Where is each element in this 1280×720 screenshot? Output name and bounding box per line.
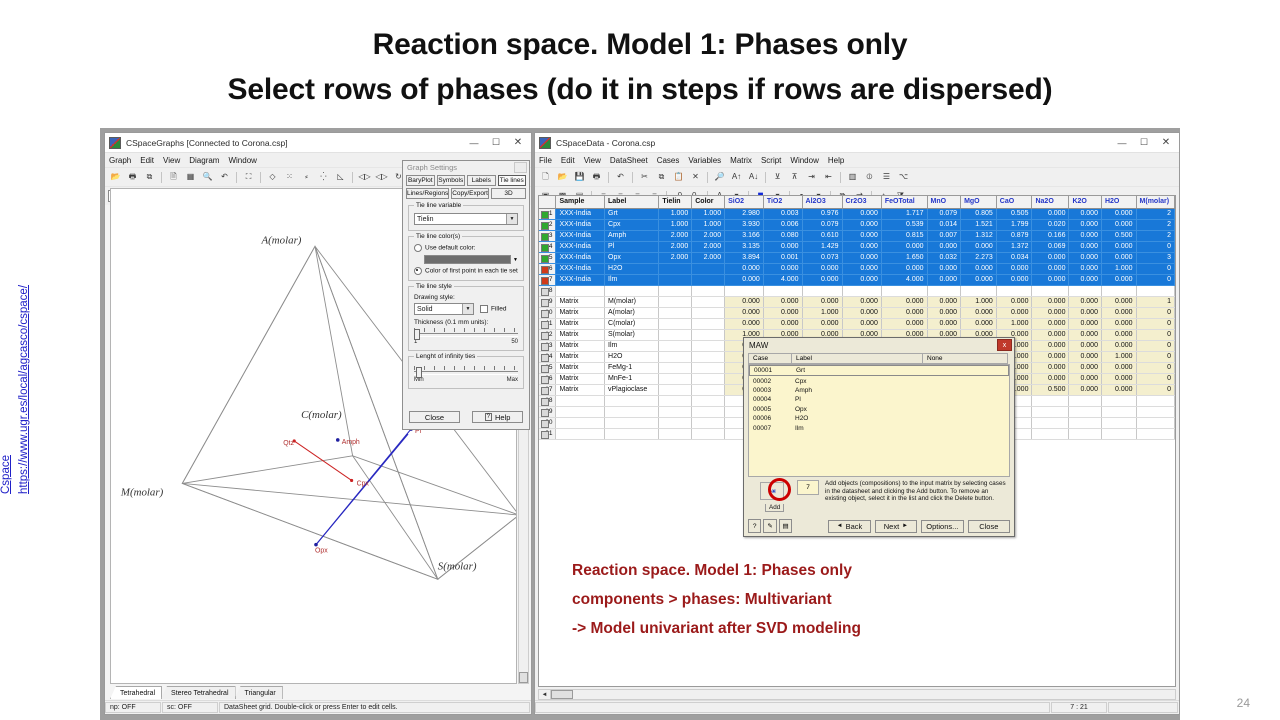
- cell-value[interactable]: 0.000: [1101, 362, 1136, 373]
- cell-sample[interactable]: XXX-India: [556, 252, 605, 263]
- maximize-button[interactable]: ☐: [485, 134, 507, 151]
- cell-value[interactable]: 0.000: [1101, 373, 1136, 384]
- table-row[interactable]: 1XXX-IndiaGrt1.0001.0002.9800.0030.9760.…: [539, 208, 1175, 219]
- cell-value[interactable]: 0.000: [1069, 252, 1102, 263]
- cell-value[interactable]: 1.000: [996, 318, 1032, 329]
- cell-value[interactable]: 0.000: [1101, 219, 1136, 230]
- column-header-k2o[interactable]: K2O: [1069, 196, 1102, 208]
- cell-tielin[interactable]: [659, 329, 692, 340]
- cell-tielin[interactable]: 1.000: [659, 208, 692, 219]
- close-button[interactable]: Close: [409, 411, 460, 423]
- cell-color[interactable]: [692, 373, 725, 384]
- cell-value[interactable]: 0.000: [1101, 241, 1136, 252]
- cell-value[interactable]: [1032, 428, 1069, 439]
- cell-color[interactable]: 2.000: [692, 241, 725, 252]
- table-row[interactable]: 6XXX-IndiaH2O0.0000.0000.0000.0000.0000.…: [539, 263, 1175, 274]
- cell-value[interactable]: 0.000: [842, 296, 881, 307]
- row-header-7[interactable]: 7: [539, 274, 556, 285]
- cell-value[interactable]: 0.000: [1032, 340, 1069, 351]
- cell-value[interactable]: 0: [1136, 274, 1174, 285]
- cell-value[interactable]: 0.000: [1032, 296, 1069, 307]
- maw-list-item[interactable]: 00005Opx: [749, 405, 1009, 414]
- cell-value[interactable]: 1: [1136, 296, 1174, 307]
- cell-sample[interactable]: XXX-India: [556, 219, 605, 230]
- column-header-color[interactable]: Color: [692, 196, 725, 208]
- cell-label[interactable]: H2O: [605, 263, 659, 274]
- cell-value[interactable]: [1136, 428, 1174, 439]
- cell-value[interactable]: 3.135: [725, 241, 764, 252]
- cell-value[interactable]: [1069, 285, 1102, 296]
- open-icon[interactable]: 📂: [108, 170, 123, 185]
- help-button[interactable]: ? Help: [472, 411, 523, 423]
- cell-color[interactable]: [692, 263, 725, 274]
- default-color-picker[interactable]: ▼: [424, 255, 518, 264]
- cell-value[interactable]: 0: [1136, 263, 1174, 274]
- cell-value[interactable]: 1.717: [881, 208, 927, 219]
- cell-tielin[interactable]: [659, 318, 692, 329]
- cell-tielin[interactable]: [659, 263, 692, 274]
- menu-matrix[interactable]: Matrix: [730, 156, 752, 165]
- row-header-9[interactable]: 9: [539, 296, 556, 307]
- cell-label[interactable]: [605, 395, 659, 406]
- cell-value[interactable]: 0.000: [1069, 362, 1102, 373]
- cell-value[interactable]: 0.000: [1069, 296, 1102, 307]
- column-header-corner[interactable]: [539, 196, 556, 208]
- cell-color[interactable]: [692, 428, 725, 439]
- cell-value[interactable]: 0.000: [1032, 329, 1069, 340]
- cell-color[interactable]: 1.000: [692, 219, 725, 230]
- table-row[interactable]: 7XXX-IndiaIlm0.0004.0000.0000.0004.0000.…: [539, 274, 1175, 285]
- cell-sample[interactable]: XXX-India: [556, 230, 605, 241]
- cell-value[interactable]: 0.000: [1101, 318, 1136, 329]
- cell-value[interactable]: 0.000: [961, 274, 997, 285]
- column-header-cao[interactable]: CaO: [996, 196, 1032, 208]
- sort-desc-icon[interactable]: A↓: [746, 170, 761, 185]
- row-header-20[interactable]: 20: [539, 417, 556, 428]
- cell-value[interactable]: 0: [1136, 384, 1174, 395]
- cell-value[interactable]: 2: [1136, 230, 1174, 241]
- column-header-sample[interactable]: Sample: [556, 196, 605, 208]
- graph-settings-tabs-row1[interactable]: BaryPlotSymbolsLabelsTie lines: [403, 174, 529, 187]
- row-header-6[interactable]: 6: [539, 263, 556, 274]
- cell-value[interactable]: 0.000: [1101, 208, 1136, 219]
- list-icon[interactable]: ☰: [879, 170, 894, 185]
- cell-value[interactable]: [1101, 395, 1136, 406]
- cell-label[interactable]: FeMg-1: [605, 362, 659, 373]
- cell-value[interactable]: 0.000: [725, 318, 764, 329]
- cspacedata-toolbar-row1[interactable]: 🗋📂💾🖶↶✂⧉📋✕🔎A↑A↓⊻⊼⇥⇤▥⦶☰⌥: [535, 167, 1179, 186]
- row-header-19[interactable]: 19: [539, 406, 556, 417]
- cell-value[interactable]: [802, 285, 842, 296]
- cell-value[interactable]: 0.000: [802, 274, 842, 285]
- cell-value[interactable]: 0.000: [1032, 252, 1069, 263]
- cell-value[interactable]: 0.000: [1069, 274, 1102, 285]
- cell-value[interactable]: [1032, 285, 1069, 296]
- cell-value[interactable]: 1.000: [802, 307, 842, 318]
- cell-color[interactable]: [692, 274, 725, 285]
- delete-icon[interactable]: ✕: [688, 170, 703, 185]
- table-row[interactable]: 11MatrixC(molar)0.0000.0000.0000.0000.00…: [539, 318, 1175, 329]
- cell-value[interactable]: 0.000: [927, 318, 961, 329]
- cell-tielin[interactable]: 2.000: [659, 230, 692, 241]
- cell-label[interactable]: [605, 285, 659, 296]
- cell-value[interactable]: 0.000: [1032, 307, 1069, 318]
- cell-value[interactable]: 0.815: [881, 230, 927, 241]
- cell-value[interactable]: [1069, 406, 1102, 417]
- cell-value[interactable]: 0.879: [996, 230, 1032, 241]
- cell-value[interactable]: 0.000: [1069, 208, 1102, 219]
- cell-value[interactable]: 3.930: [725, 219, 764, 230]
- cell-label[interactable]: MnFe-1: [605, 373, 659, 384]
- cell-tielin[interactable]: [659, 406, 692, 417]
- cell-value[interactable]: 0.000: [1069, 384, 1102, 395]
- undo-icon[interactable]: ↶: [217, 170, 232, 185]
- cell-value[interactable]: 0.000: [1032, 373, 1069, 384]
- cell-value[interactable]: 4.000: [881, 274, 927, 285]
- column-header-al2o3[interactable]: Al2O3: [802, 196, 842, 208]
- cell-label[interactable]: [605, 406, 659, 417]
- menu-window[interactable]: Window: [228, 156, 256, 165]
- row-header-11[interactable]: 11: [539, 318, 556, 329]
- cell-value[interactable]: 0.000: [996, 263, 1032, 274]
- cell-value[interactable]: [1136, 417, 1174, 428]
- graph-settings-tab-baryplot[interactable]: BaryPlot: [406, 175, 435, 186]
- filter2-icon[interactable]: ⊼: [787, 170, 802, 185]
- cell-value[interactable]: 0.079: [927, 208, 961, 219]
- row-header-2[interactable]: 2: [539, 219, 556, 230]
- cell-value[interactable]: 0.976: [802, 208, 842, 219]
- side-link-url[interactable]: https://www.ugr.es/local/agcasco/cspace/: [18, 285, 30, 494]
- cell-value[interactable]: 0.000: [881, 307, 927, 318]
- zoom-icon[interactable]: 🔍: [200, 170, 215, 185]
- column-header-mgo[interactable]: MgO: [961, 196, 997, 208]
- row-header-12[interactable]: 12: [539, 329, 556, 340]
- slider-knob[interactable]: [416, 367, 422, 378]
- cell-value[interactable]: 0.000: [1032, 208, 1069, 219]
- cell-value[interactable]: 0.034: [996, 252, 1032, 263]
- cell-value[interactable]: 0.000: [763, 307, 802, 318]
- cell-value[interactable]: 0.000: [961, 318, 997, 329]
- cell-value[interactable]: 0.000: [802, 296, 842, 307]
- cell-label[interactable]: vPlagioclase: [605, 384, 659, 395]
- cell-color[interactable]: [692, 285, 725, 296]
- cell-value[interactable]: 0.000: [961, 241, 997, 252]
- print-icon[interactable]: 🖶: [589, 170, 604, 185]
- copy-icon[interactable]: ⧉: [654, 170, 669, 185]
- cell-label[interactable]: Grt: [605, 208, 659, 219]
- cell-value[interactable]: 0.000: [842, 208, 881, 219]
- column-header-na2o[interactable]: Na2O: [1032, 196, 1069, 208]
- append-col-icon[interactable]: ⇤: [821, 170, 836, 185]
- cell-value[interactable]: 0.032: [927, 252, 961, 263]
- cell-value[interactable]: 0.000: [842, 219, 881, 230]
- cell-value[interactable]: 3: [1136, 252, 1174, 263]
- cell-value[interactable]: 0.000: [842, 274, 881, 285]
- maw-list-item[interactable]: 00003Amph: [749, 386, 1009, 395]
- datasheet-horizontal-scrollbar[interactable]: ◄: [538, 689, 1176, 700]
- menu-edit[interactable]: Edit: [561, 156, 575, 165]
- cell-value[interactable]: 0.805: [961, 208, 997, 219]
- cell-value[interactable]: 0.000: [996, 307, 1032, 318]
- cell-value[interactable]: 0.166: [1032, 230, 1069, 241]
- table-row[interactable]: 3XXX-IndiaAmph2.0002.0003.1660.0800.6100…: [539, 230, 1175, 241]
- copy-icon[interactable]: ▤: [779, 519, 792, 533]
- cell-value[interactable]: 0.000: [842, 252, 881, 263]
- cell-value[interactable]: 0.000: [1032, 362, 1069, 373]
- cell-value[interactable]: 0.000: [1101, 340, 1136, 351]
- cell-value[interactable]: 1.799: [996, 219, 1032, 230]
- cell-value[interactable]: 0.000: [802, 318, 842, 329]
- cell-tielin[interactable]: [659, 296, 692, 307]
- cell-label[interactable]: Amph: [605, 230, 659, 241]
- graph-settings-collapse-icon[interactable]: [514, 162, 527, 173]
- cell-value[interactable]: 0.000: [927, 274, 961, 285]
- cell-label[interactable]: S(molar): [605, 329, 659, 340]
- cell-sample[interactable]: Matrix: [556, 351, 605, 362]
- cell-color[interactable]: [692, 351, 725, 362]
- cell-color[interactable]: [692, 329, 725, 340]
- diagram-tab-tetrahedral[interactable]: Tetrahedral: [110, 686, 162, 699]
- cell-value[interactable]: [881, 285, 927, 296]
- menu-view[interactable]: View: [163, 156, 180, 165]
- paste-icon[interactable]: 📋: [671, 170, 686, 185]
- maw-list-item[interactable]: 00006H2O: [749, 414, 1009, 423]
- cell-value[interactable]: 0.000: [763, 241, 802, 252]
- cell-sample[interactable]: Matrix: [556, 307, 605, 318]
- cell-label[interactable]: H2O: [605, 351, 659, 362]
- cell-label[interactable]: M(molar): [605, 296, 659, 307]
- cell-label[interactable]: Ilm: [605, 274, 659, 285]
- cell-value[interactable]: [1101, 285, 1136, 296]
- cell-value[interactable]: [1136, 406, 1174, 417]
- cell-sample[interactable]: XXX-India: [556, 208, 605, 219]
- cell-value[interactable]: 0.000: [881, 263, 927, 274]
- cell-value[interactable]: 0.000: [1069, 241, 1102, 252]
- cell-sample[interactable]: XXX-India: [556, 241, 605, 252]
- cell-label[interactable]: [605, 428, 659, 439]
- cell-color[interactable]: 1.000: [692, 208, 725, 219]
- save-icon[interactable]: 💾: [572, 170, 587, 185]
- cell-value[interactable]: [1101, 428, 1136, 439]
- graph-settings-tabs-row2[interactable]: Lines/RegionsCopy/Export3D: [403, 187, 529, 200]
- barycentric-icon[interactable]: ◇: [265, 170, 280, 185]
- maw-list-item[interactable]: 00004Pl: [749, 395, 1009, 404]
- row-header-1[interactable]: 1: [539, 208, 556, 219]
- filter-icon[interactable]: ⊻: [770, 170, 785, 185]
- cell-sample[interactable]: [556, 417, 605, 428]
- row-header-18[interactable]: 18: [539, 395, 556, 406]
- cell-tielin[interactable]: [659, 384, 692, 395]
- color-swatch-bar[interactable]: [424, 255, 511, 264]
- menu-datasheet[interactable]: DataSheet: [610, 156, 648, 165]
- cell-value[interactable]: 2.273: [961, 252, 997, 263]
- cell-value[interactable]: 0.000: [763, 263, 802, 274]
- maw-column-case[interactable]: Case: [748, 353, 792, 364]
- cell-value[interactable]: 0.000: [842, 318, 881, 329]
- cell-color[interactable]: [692, 307, 725, 318]
- cell-sample[interactable]: XXX-India: [556, 263, 605, 274]
- row-header-8[interactable]: 8: [539, 285, 556, 296]
- diagram-tab-stereo-tetrahedral[interactable]: Stereo Tetrahedral: [161, 686, 235, 699]
- cell-tielin[interactable]: [659, 395, 692, 406]
- page-icon[interactable]: 🗎: [166, 170, 181, 185]
- cell-value[interactable]: [763, 285, 802, 296]
- cell-value[interactable]: 0.000: [842, 263, 881, 274]
- tie-icon[interactable]: ⸗: [299, 170, 314, 185]
- cell-value[interactable]: 1.000: [961, 296, 997, 307]
- cell-sample[interactable]: Matrix: [556, 329, 605, 340]
- column-header-tio2[interactable]: TiO2: [763, 196, 802, 208]
- cell-value[interactable]: 0.001: [763, 252, 802, 263]
- transform-icon[interactable]: ⦶: [862, 170, 877, 185]
- cell-value[interactable]: 0: [1136, 351, 1174, 362]
- cell-value[interactable]: 1.000: [1101, 263, 1136, 274]
- row-header-15[interactable]: 15: [539, 362, 556, 373]
- region-icon[interactable]: ◺: [333, 170, 348, 185]
- maw-case-list[interactable]: 00001Grt00002Cpx00003Amph00004Pl00005Opx…: [748, 364, 1010, 477]
- cell-value[interactable]: 0.000: [1032, 318, 1069, 329]
- tie-line-variable-combo[interactable]: Tielin ▼: [414, 213, 518, 225]
- cell-value[interactable]: 0.000: [1069, 307, 1102, 318]
- cell-color[interactable]: [692, 296, 725, 307]
- cell-color[interactable]: [692, 362, 725, 373]
- cell-value[interactable]: 0: [1136, 329, 1174, 340]
- cell-value[interactable]: 0.014: [927, 219, 961, 230]
- cell-value[interactable]: 0.000: [1069, 318, 1102, 329]
- points-icon[interactable]: ⁙: [282, 170, 297, 185]
- cell-sample[interactable]: Matrix: [556, 318, 605, 329]
- row-header-13[interactable]: 13: [539, 340, 556, 351]
- graph-settings-tab-labels[interactable]: Labels: [467, 175, 496, 186]
- cell-value[interactable]: 0.003: [763, 208, 802, 219]
- cell-sample[interactable]: Matrix: [556, 362, 605, 373]
- maw-close-button[interactable]: Close: [968, 520, 1010, 533]
- menu-window[interactable]: Window: [790, 156, 818, 165]
- cell-value[interactable]: 0: [1136, 340, 1174, 351]
- cell-value[interactable]: [1101, 406, 1136, 417]
- print-icon[interactable]: 🖶: [125, 170, 140, 185]
- infinity-slider[interactable]: [414, 366, 518, 377]
- fit-icon[interactable]: ⛶: [241, 170, 256, 185]
- cell-value[interactable]: 0.000: [725, 296, 764, 307]
- cell-value[interactable]: [961, 285, 997, 296]
- cell-value[interactable]: [725, 285, 764, 296]
- cell-value[interactable]: 0.000: [1069, 329, 1102, 340]
- cell-sample[interactable]: Matrix: [556, 384, 605, 395]
- cell-value[interactable]: 0.000: [881, 241, 927, 252]
- cell-value[interactable]: [1032, 417, 1069, 428]
- cell-color[interactable]: [692, 384, 725, 395]
- maw-list-item[interactable]: 00002Cpx: [749, 376, 1009, 385]
- cell-value[interactable]: 0: [1136, 307, 1174, 318]
- graph-settings-tab-lines-regions[interactable]: Lines/Regions: [406, 188, 449, 199]
- cell-value[interactable]: [1032, 395, 1069, 406]
- cell-label[interactable]: Cpx: [605, 219, 659, 230]
- cell-value[interactable]: 0.500: [1032, 384, 1069, 395]
- cell-value[interactable]: 0.000: [1032, 274, 1069, 285]
- new-icon[interactable]: 🗋: [538, 170, 553, 185]
- cell-value[interactable]: 0.000: [1101, 384, 1136, 395]
- row-header-4[interactable]: 4: [539, 241, 556, 252]
- table-row[interactable]: 4XXX-IndiaPl2.0002.0003.1350.0001.4290.0…: [539, 241, 1175, 252]
- cell-sample[interactable]: Matrix: [556, 340, 605, 351]
- cell-value[interactable]: 0.500: [1101, 230, 1136, 241]
- cell-value[interactable]: 0.000: [763, 318, 802, 329]
- symbols-icon[interactable]: ⁛: [316, 170, 331, 185]
- cell-value[interactable]: [1136, 285, 1174, 296]
- cell-value[interactable]: 0.000: [881, 318, 927, 329]
- cell-value[interactable]: 0.000: [1069, 373, 1102, 384]
- undo-icon[interactable]: ↶: [613, 170, 628, 185]
- cell-tielin[interactable]: 2.000: [659, 241, 692, 252]
- cell-color[interactable]: [692, 406, 725, 417]
- cell-value[interactable]: 0.007: [927, 230, 961, 241]
- cell-value[interactable]: 0.020: [1032, 219, 1069, 230]
- maw-column-label[interactable]: Label: [791, 353, 923, 364]
- cell-tielin[interactable]: [659, 340, 692, 351]
- cell-value[interactable]: [996, 285, 1032, 296]
- column-header-feototal[interactable]: FeOTotal: [881, 196, 927, 208]
- graph-settings-tab-tie-lines[interactable]: Tie lines: [498, 175, 527, 186]
- next-button[interactable]: Next ►: [875, 520, 917, 533]
- cut-icon[interactable]: ✂: [637, 170, 652, 185]
- cell-value[interactable]: 0.000: [1101, 307, 1136, 318]
- cell-value[interactable]: 0.000: [725, 274, 764, 285]
- row-header-5[interactable]: 5: [539, 252, 556, 263]
- cell-label[interactable]: Ilm: [605, 340, 659, 351]
- cell-value[interactable]: 0.000: [725, 307, 764, 318]
- cell-value[interactable]: 0: [1136, 241, 1174, 252]
- cell-value[interactable]: 0.539: [881, 219, 927, 230]
- cell-color[interactable]: [692, 395, 725, 406]
- rotate-right-icon[interactable]: ◁▷: [374, 170, 389, 185]
- cell-value[interactable]: 0.079: [802, 219, 842, 230]
- minimize-button[interactable]: —: [463, 134, 485, 151]
- cell-value[interactable]: 0.000: [802, 263, 842, 274]
- cell-value[interactable]: 0.000: [842, 307, 881, 318]
- cell-label[interactable]: A(molar): [605, 307, 659, 318]
- row-header-21[interactable]: 21: [539, 428, 556, 439]
- cell-value[interactable]: 0.069: [1032, 241, 1069, 252]
- maw-column-none[interactable]: None: [922, 353, 1008, 364]
- cell-tielin[interactable]: 1.000: [659, 219, 692, 230]
- cell-value[interactable]: 0.000: [927, 241, 961, 252]
- script-icon[interactable]: ⌥: [896, 170, 911, 185]
- scroll-thumb[interactable]: [551, 690, 573, 699]
- cell-value[interactable]: 1.000: [1101, 351, 1136, 362]
- cell-value[interactable]: [1069, 395, 1102, 406]
- row-header-10[interactable]: 10: [539, 307, 556, 318]
- side-link[interactable]: Cspace https://www.ugr.es/local/agcasco/…: [8, 232, 54, 494]
- chevron-down-icon[interactable]: ▼: [462, 304, 473, 314]
- menu-variables[interactable]: Variables: [688, 156, 721, 165]
- cell-value[interactable]: 0: [1136, 318, 1174, 329]
- pin-icon[interactable]: ✎: [763, 519, 776, 533]
- cell-tielin[interactable]: [659, 362, 692, 373]
- cell-tielin[interactable]: [659, 417, 692, 428]
- cspacedata-menubar[interactable]: FileEditViewDataSheetCasesVariablesMatri…: [535, 153, 1179, 167]
- close-button[interactable]: ✕: [1155, 134, 1177, 151]
- cell-value[interactable]: 0.000: [842, 241, 881, 252]
- column-header-label[interactable]: Label: [605, 196, 659, 208]
- cell-color[interactable]: 2.000: [692, 252, 725, 263]
- cell-tielin[interactable]: [659, 373, 692, 384]
- cell-value[interactable]: 0.000: [842, 230, 881, 241]
- cell-value[interactable]: 0: [1136, 373, 1174, 384]
- cell-value[interactable]: 0.000: [1101, 274, 1136, 285]
- cell-value[interactable]: 0.000: [1069, 230, 1102, 241]
- chevron-down-icon[interactable]: ▼: [506, 214, 517, 224]
